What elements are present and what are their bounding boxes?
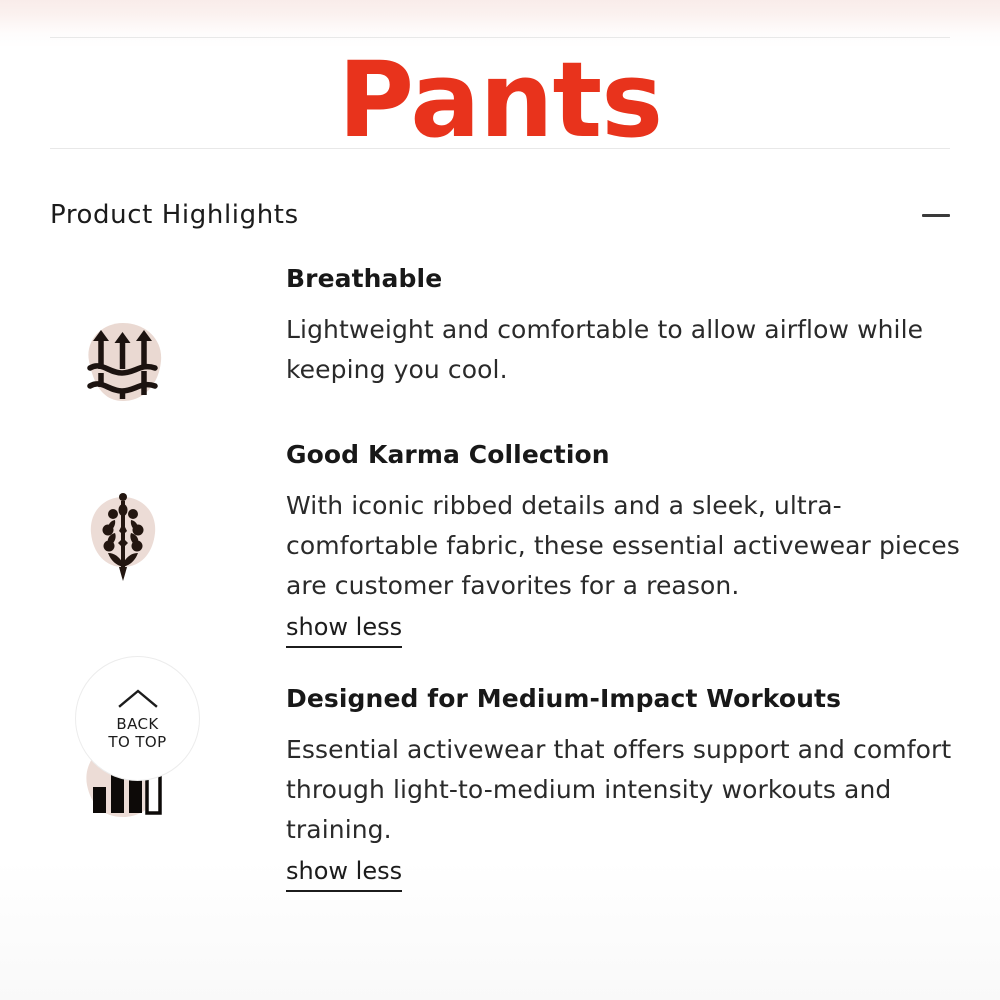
- highlight-description: With iconic ribbed details and a sleek, …: [286, 486, 966, 606]
- show-less-toggle[interactable]: show less: [286, 610, 402, 648]
- highlight-title: Designed for Medium-Impact Workouts: [286, 682, 966, 716]
- back-to-top-label-line1: BACK: [116, 715, 158, 733]
- show-less-toggle[interactable]: show less: [286, 854, 402, 892]
- hero-banner: Pants: [0, 0, 1000, 182]
- highlight-description: Lightweight and comfortable to allow air…: [286, 310, 966, 390]
- product-highlights-header[interactable]: Product Highlights: [50, 193, 950, 237]
- page-title: Pants: [0, 44, 1000, 156]
- highlight-body: Designed for Medium-Impact Workouts Esse…: [286, 682, 966, 892]
- product-page: Pants Product Highlights: [0, 0, 1000, 1000]
- minus-icon: [922, 214, 950, 217]
- collapse-section-button[interactable]: [910, 197, 950, 233]
- chevron-up-icon: [118, 688, 158, 708]
- highlight-item: Breathable Lightweight and comfortable t…: [0, 262, 1000, 390]
- highlight-title: Breathable: [286, 262, 966, 296]
- back-to-top-label-line2: TO TOP: [108, 733, 166, 751]
- highlight-title: Good Karma Collection: [286, 438, 966, 472]
- highlight-body: Breathable Lightweight and comfortable t…: [286, 262, 966, 390]
- highlight-body: Good Karma Collection With iconic ribbed…: [286, 438, 966, 648]
- breathable-airflow-icon: [68, 306, 178, 416]
- section-title: Product Highlights: [50, 199, 299, 231]
- hero-divider-top: [50, 37, 950, 38]
- highlight-description: Essential activewear that offers support…: [286, 730, 966, 850]
- highlight-item: Good Karma Collection With iconic ribbed…: [0, 438, 1000, 648]
- botanical-motif-icon: [68, 478, 178, 588]
- back-to-top-button[interactable]: BACK TO TOP: [75, 656, 200, 781]
- product-highlights-list: Breathable Lightweight and comfortable t…: [0, 262, 1000, 892]
